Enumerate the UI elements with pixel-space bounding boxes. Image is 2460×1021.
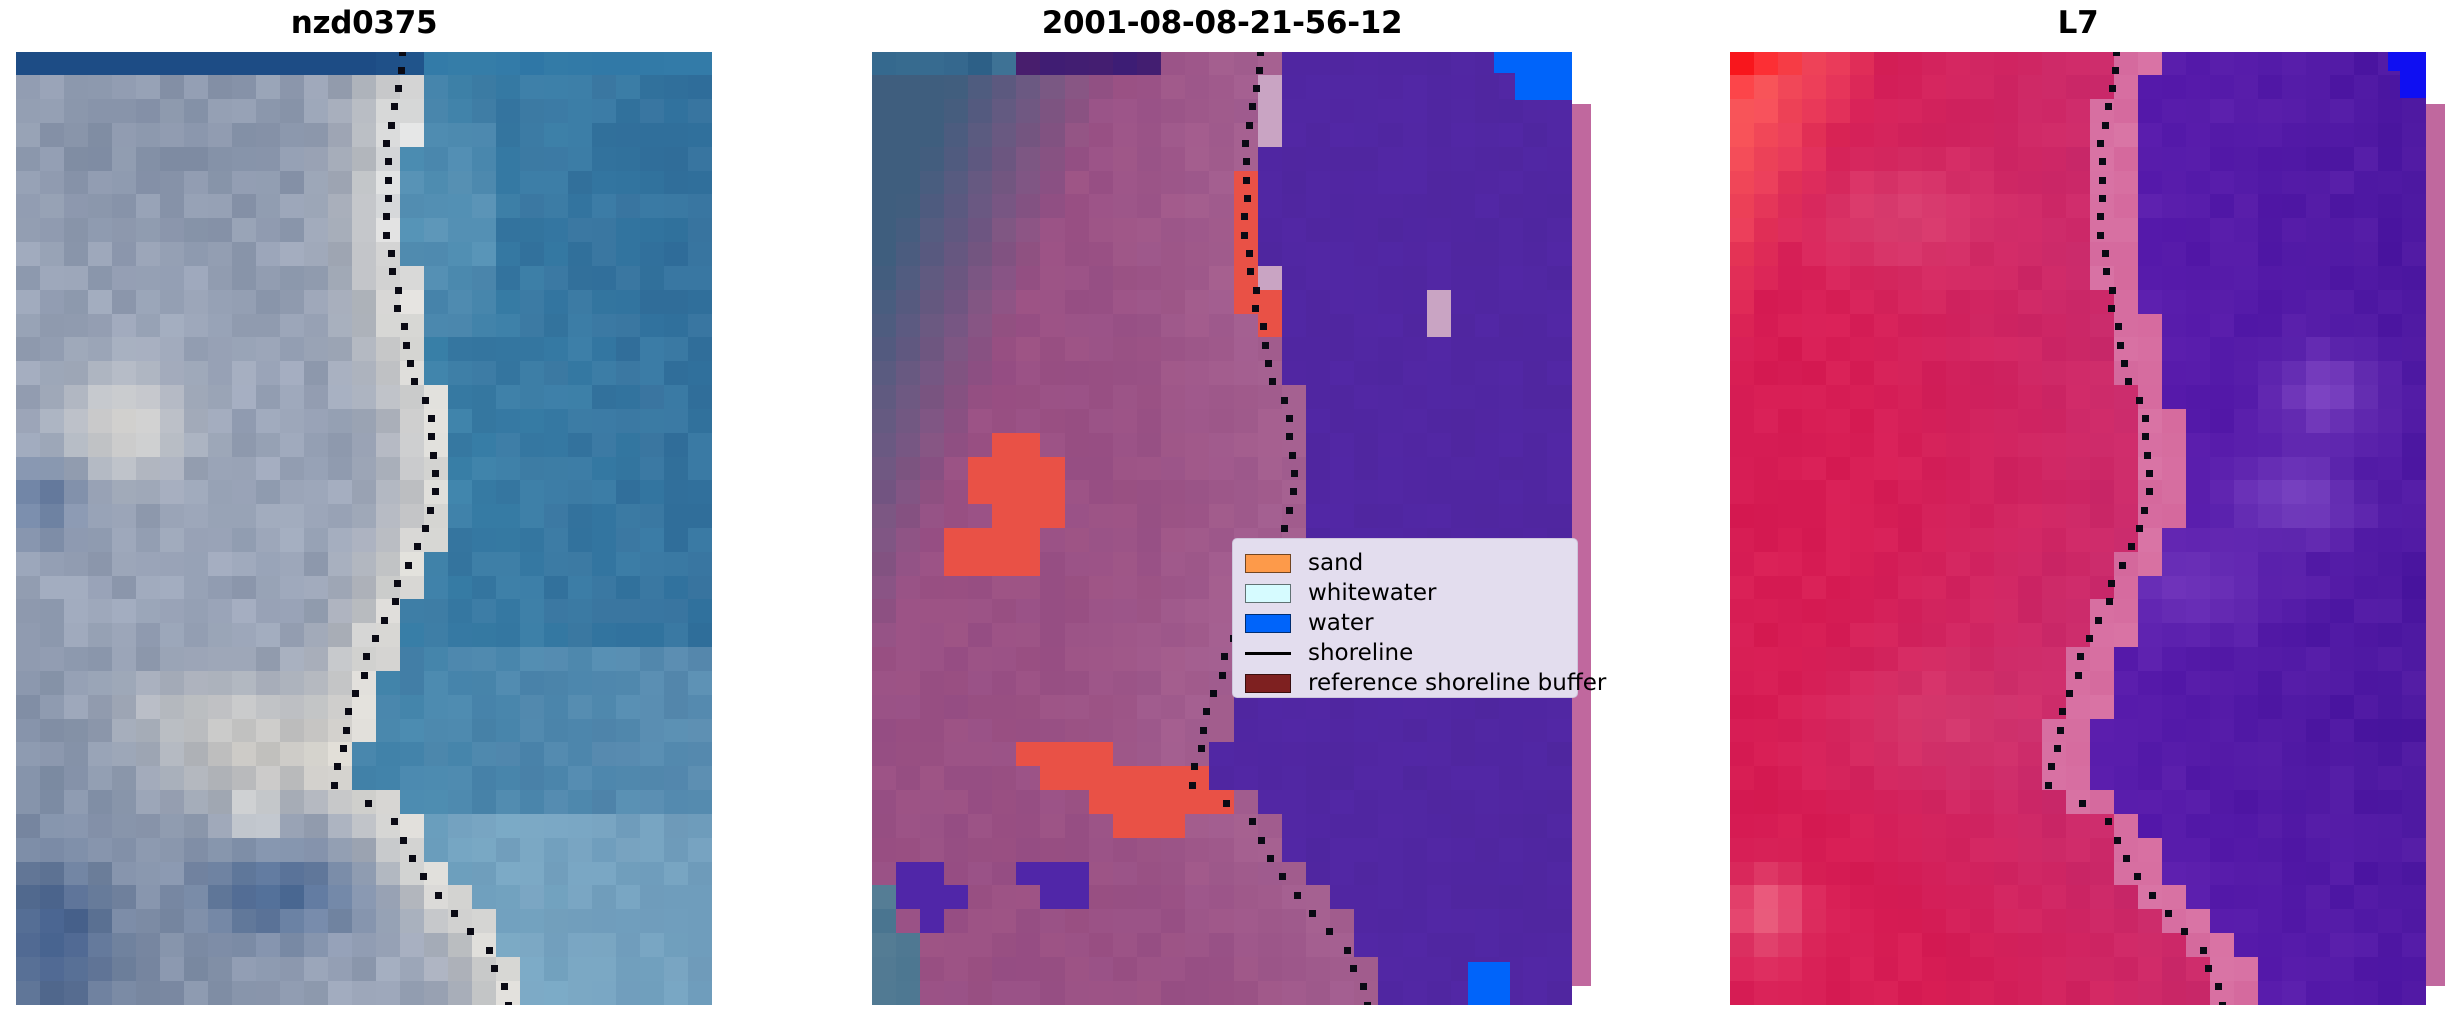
- legend-label-shoreline: shoreline: [1308, 638, 1413, 668]
- water-swatch: [1245, 614, 1291, 633]
- legend-label-whitewater: whitewater: [1308, 578, 1436, 608]
- legend-label-sand: sand: [1308, 548, 1363, 578]
- reference-shoreline-buffer-strip: [2426, 104, 2445, 986]
- figure-root: nzd0375 2001-08-08-21-56-12 L7 sand whit…: [0, 0, 2460, 1021]
- l7-false-color-canvas[interactable]: [1730, 52, 2426, 1005]
- reference-buffer-swatch: [1245, 674, 1291, 693]
- legend-item-whitewater[interactable]: whitewater: [1245, 578, 1567, 608]
- panel-classification-overlay: 2001-08-08-21-56-12: [872, 0, 1572, 1021]
- legend-label-water: water: [1308, 608, 1374, 638]
- panel-l7-false-color: L7: [1730, 0, 2426, 1021]
- panel-canvas-wrap-rgb: [16, 52, 712, 1005]
- legend-box[interactable]: sand whitewater water shoreline referenc…: [1232, 538, 1578, 698]
- legend-item-sand[interactable]: sand: [1245, 548, 1567, 578]
- classification-overlay-canvas[interactable]: [872, 52, 1572, 1005]
- whitewater-swatch: [1245, 584, 1291, 603]
- legend-item-shoreline[interactable]: shoreline: [1245, 638, 1567, 668]
- panel-rgb-image: nzd0375: [16, 0, 712, 1021]
- rgb-satellite-image-canvas[interactable]: [16, 52, 712, 1005]
- legend-item-water[interactable]: water: [1245, 608, 1567, 638]
- panel-title-rgb: nzd0375: [16, 0, 712, 46]
- sand-swatch: [1245, 554, 1291, 573]
- panel-canvas-wrap-classification: [872, 52, 1572, 1005]
- panel-canvas-wrap-l7: [1730, 52, 2426, 1005]
- panel-title-l7: L7: [1730, 0, 2426, 46]
- shoreline-line-icon: [1245, 644, 1291, 663]
- legend-item-reference-buffer[interactable]: reference shoreline buffer: [1245, 668, 1567, 698]
- legend-label-reference-buffer: reference shoreline buffer: [1308, 668, 1606, 698]
- panel-title-classification: 2001-08-08-21-56-12: [872, 0, 1572, 46]
